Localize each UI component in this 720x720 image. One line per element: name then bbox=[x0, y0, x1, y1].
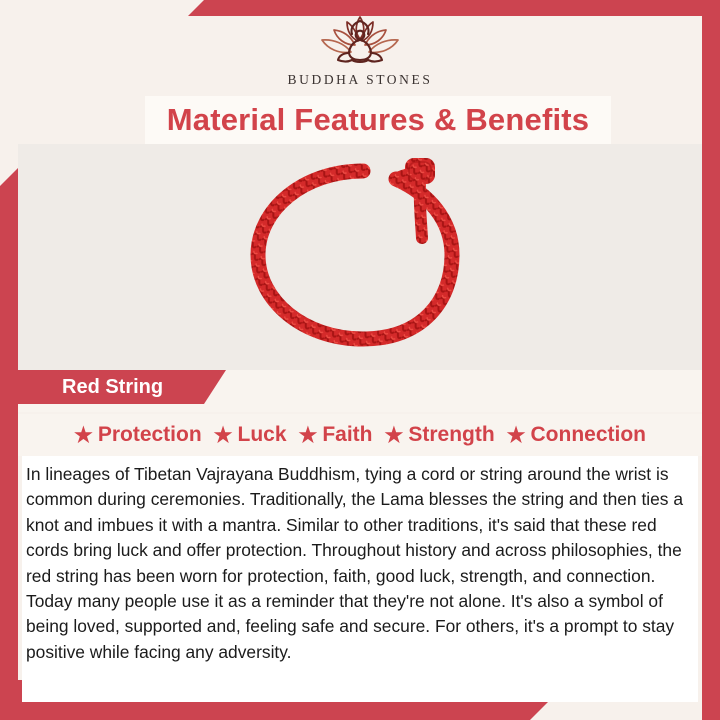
feature-list: ★ Protection ★ Luck ★ Faith ★ Strength ★… bbox=[18, 414, 702, 456]
brand-header: BUDDHA STONES bbox=[18, 0, 702, 92]
frame-accent-bottom bbox=[0, 702, 548, 720]
feature-label: Faith bbox=[322, 423, 372, 447]
star-icon: ★ bbox=[385, 425, 404, 446]
feature-label: Luck bbox=[238, 423, 287, 447]
feature-item-luck: ★ Luck bbox=[208, 423, 293, 447]
feature-label: Strength bbox=[408, 423, 494, 447]
brand-name: BUDDHA STONES bbox=[288, 72, 433, 88]
star-icon: ★ bbox=[299, 425, 318, 446]
frame-accent-left bbox=[0, 168, 18, 720]
red-braided-bracelet-icon bbox=[200, 144, 520, 370]
frame-accent-right bbox=[702, 14, 720, 720]
feature-item-protection: ★ Protection bbox=[68, 423, 208, 447]
product-label-ribbon: Red String bbox=[18, 370, 226, 404]
title-banner: Material Features & Benefits bbox=[145, 96, 611, 144]
feature-item-connection: ★ Connection bbox=[501, 423, 652, 447]
infographic-poster: BUDDHA STONES Material Features & Benefi… bbox=[0, 0, 720, 720]
star-icon: ★ bbox=[214, 425, 233, 446]
feature-item-faith: ★ Faith bbox=[293, 423, 379, 447]
description-text: In lineages of Tibetan Vajrayana Buddhis… bbox=[26, 462, 690, 665]
lotus-meditation-icon bbox=[314, 12, 406, 68]
page-title: Material Features & Benefits bbox=[167, 102, 590, 138]
feature-label: Connection bbox=[531, 423, 647, 447]
product-image bbox=[18, 144, 702, 370]
star-icon: ★ bbox=[74, 425, 93, 446]
feature-label: Protection bbox=[98, 423, 202, 447]
description-panel: In lineages of Tibetan Vajrayana Buddhis… bbox=[22, 456, 698, 702]
product-label: Red String bbox=[62, 376, 163, 399]
brand-logo: BUDDHA STONES bbox=[288, 12, 433, 88]
feature-item-strength: ★ Strength bbox=[379, 423, 501, 447]
star-icon: ★ bbox=[507, 425, 526, 446]
